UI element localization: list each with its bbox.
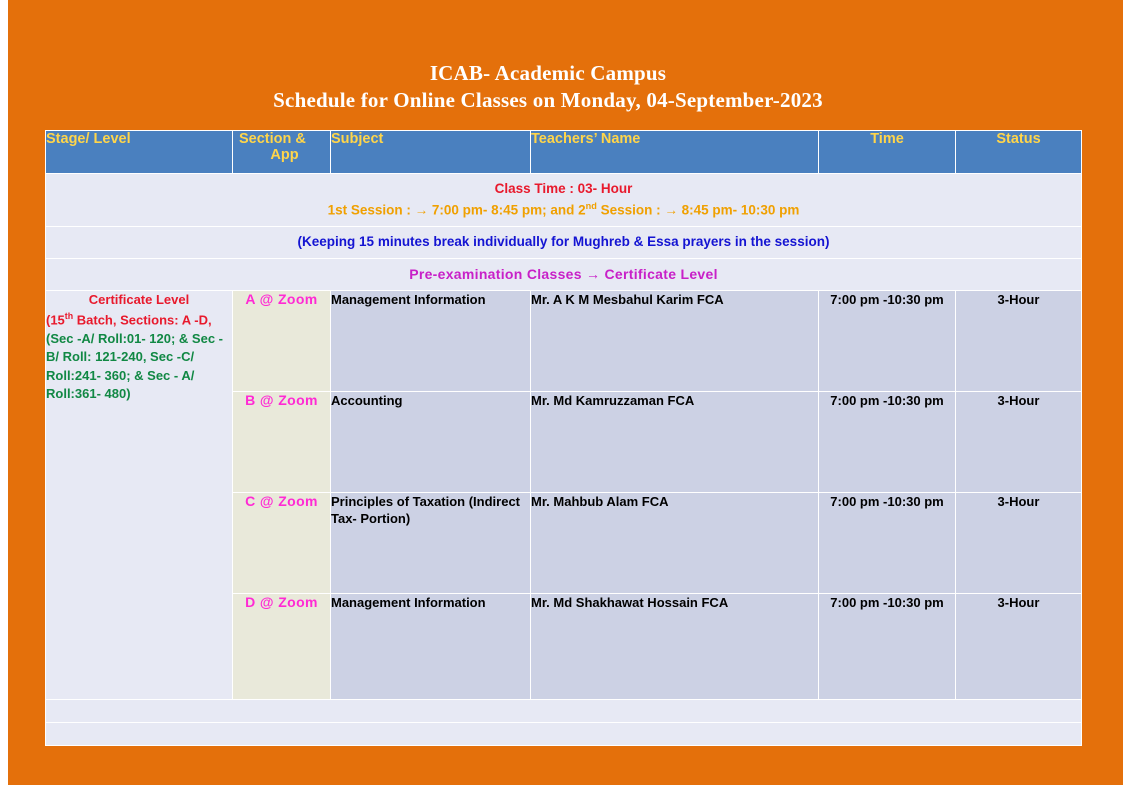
time-cell: 7:00 pm -10:30 pm: [819, 492, 956, 593]
status-cell: 3-Hour: [956, 593, 1082, 699]
stage-level-red-2: Batch, Sections: A -D,: [73, 312, 211, 327]
time-cell: 7:00 pm -10:30 pm: [819, 391, 956, 492]
empty-table-row: [46, 699, 1082, 722]
section-app-cell[interactable]: A @ Zoom: [233, 290, 331, 391]
title-line-2: Schedule for Online Classes on Monday, 0…: [8, 87, 1088, 114]
title-line-1: ICAB- Academic Campus: [8, 60, 1088, 87]
note-pre-exam: Pre-examination Classes → Certificate Le…: [52, 264, 1075, 285]
column-header-section-line2: App: [239, 147, 330, 163]
note-cell-break: (Keeping 15 minutes break individually f…: [46, 227, 1082, 258]
subject-cell: Management Information: [331, 593, 531, 699]
teacher-name-cell: Mr. A K M Mesbahul Karim FCA: [531, 290, 819, 391]
stage-level-title: Certificate Level: [46, 291, 232, 309]
section-app-cell[interactable]: B @ Zoom: [233, 391, 331, 492]
column-header-time: Time: [819, 131, 956, 174]
column-header-stage: Stage/ Level: [46, 131, 233, 174]
schedule-poster-page: ICAB- Academic Campus Schedule for Onlin…: [0, 0, 1123, 793]
table-row: Certificate Level(15th Batch, Sections: …: [46, 290, 1082, 391]
subject-cell: Management Information: [331, 290, 531, 391]
note-row-class-time: Class Time : 03- Hour 1st Session : → 7:…: [46, 174, 1082, 227]
teacher-name-cell: Mr. Mahbub Alam FCA: [531, 492, 819, 593]
empty-cell: [46, 722, 1082, 745]
time-cell: 7:00 pm -10:30 pm: [819, 593, 956, 699]
note-row-pre-exam: Pre-examination Classes → Certificate Le…: [46, 258, 1082, 290]
column-header-subject: Subject: [331, 131, 531, 174]
section-app-cell[interactable]: C @ Zoom: [233, 492, 331, 593]
section-app-cell[interactable]: D @ Zoom: [233, 593, 331, 699]
time-cell: 7:00 pm -10:30 pm: [819, 290, 956, 391]
status-cell: 3-Hour: [956, 391, 1082, 492]
column-header-section-app: Section & App: [233, 131, 331, 174]
column-header-section-line1: Section &: [239, 131, 306, 147]
column-header-teacher: Teachers’ Name: [531, 131, 819, 174]
teacher-name-cell: Mr. Md Shakhawat Hossain FCA: [531, 593, 819, 699]
subject-cell: Accounting: [331, 391, 531, 492]
note-sessions: 1st Session : → 7:00 pm- 8:45 pm; and 2n…: [52, 199, 1075, 221]
stage-level-red-1: (15: [46, 312, 65, 327]
stage-level-red-sup: th: [65, 311, 73, 321]
teacher-name-cell: Mr. Md Kamruzzaman FCA: [531, 391, 819, 492]
note-break: (Keeping 15 minutes break individually f…: [52, 232, 1075, 252]
subject-cell: Principles of Taxation (Indirect Tax- Po…: [331, 492, 531, 593]
column-header-status: Status: [956, 131, 1082, 174]
stage-level-cell: Certificate Level(15th Batch, Sections: …: [46, 290, 233, 699]
empty-table-row: [46, 722, 1082, 745]
note-sessions-prefix: 1st Session : → 7:00 pm- 8:45 pm; and 2: [328, 203, 586, 218]
poster-title: ICAB- Academic Campus Schedule for Onlin…: [8, 60, 1088, 115]
status-cell: 3-Hour: [956, 492, 1082, 593]
status-cell: 3-Hour: [956, 290, 1082, 391]
note-cell-pre-exam: Pre-examination Classes → Certificate Le…: [46, 258, 1082, 290]
note-class-time: Class Time : 03- Hour: [52, 179, 1075, 199]
note-sessions-suffix: Session : → 8:45 pm- 10:30 pm: [597, 203, 800, 218]
note-row-break: (Keeping 15 minutes break individually f…: [46, 227, 1082, 258]
table-header-row: Stage/ Level Section & App Subject Teach…: [46, 131, 1082, 174]
note-cell-class-time: Class Time : 03- Hour 1st Session : → 7:…: [46, 174, 1082, 227]
stage-level-green: (Sec -A/ Roll:01- 120; & Sec -B/ Roll: 1…: [46, 331, 223, 401]
schedule-table: Stage/ Level Section & App Subject Teach…: [45, 130, 1082, 746]
note-sessions-sup: nd: [586, 201, 597, 211]
empty-cell: [46, 699, 1082, 722]
